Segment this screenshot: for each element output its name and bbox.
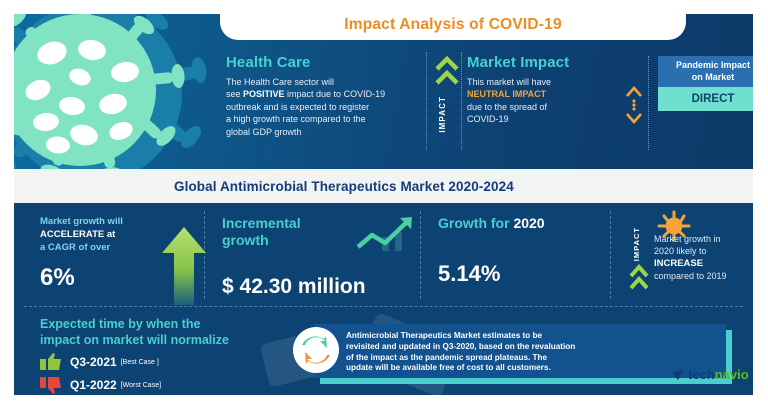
note-text: Antimicrobial Therapeutics Market estima…: [314, 324, 726, 374]
mi-emphasis: NEUTRAL IMPACT: [467, 89, 546, 99]
banner-notch-left: [14, 6, 220, 14]
bottom-section: Expected time by when the impact on mark…: [14, 307, 753, 395]
best-case-label: [Best Case ]: [121, 359, 159, 366]
hc-line2-post: impact due to COVID-19: [285, 89, 386, 99]
market-impact-heading: Market Impact: [467, 54, 617, 71]
chevron-up-double-icon: [628, 263, 650, 293]
pandemic-impact-value: DIRECT: [658, 87, 753, 111]
impact-divider: IMPACT: [434, 54, 464, 156]
market-impact-body: This market will have NEUTRAL IMPACT due…: [467, 76, 617, 126]
normalize-line1: Expected time by when the: [40, 317, 200, 331]
refresh-icon: [292, 326, 340, 374]
cagr-line1: Market growth will: [40, 216, 123, 227]
hc-line2-pre: see: [226, 89, 243, 99]
impact-right-label: IMPACT: [632, 227, 641, 261]
stats-row: Market growth will ACCELERATE at a CAGR …: [14, 203, 753, 307]
note-line3: of the impact as the pandemic spread pla…: [346, 353, 547, 362]
health-care-body: The Health Care sector will see POSITIVE…: [226, 76, 426, 138]
note-main: Antimicrobial Therapeutics Market estima…: [314, 324, 726, 378]
worst-case-label: [Worst Case]: [121, 382, 161, 389]
hero-divider-far-right: [648, 56, 649, 150]
logo-text-navio: navio: [715, 367, 749, 382]
main-panel: Impact Analysis of COVID-19 Health Care …: [14, 6, 753, 395]
market-impact-column: Market Impact This market will have NEUT…: [467, 54, 617, 126]
note-box: Antimicrobial Therapeutics Market estima…: [314, 324, 726, 378]
cagr-line3: a CAGR of over: [40, 242, 110, 253]
hc-line3: outbreak and is expected to register: [226, 102, 369, 112]
title-banner: Impact Analysis of COVID-19: [220, 6, 686, 40]
best-case-quarter: Q3-2021: [70, 355, 117, 369]
market-title: Global Antimicrobial Therapeutics Market…: [174, 179, 514, 194]
mi-line4: COVID-19: [467, 114, 509, 124]
note-line2: revisited and updated in Q3-2020, based …: [346, 342, 575, 351]
health-care-column: Health Care The Health Care sector will …: [226, 54, 426, 138]
stats-divider-2: [420, 211, 421, 299]
hc-line1: The Health Care sector will: [226, 77, 334, 87]
impact-right-text: Market growth in 2020 likely to INCREASE…: [654, 233, 753, 282]
chevron-up-double-icon: [434, 54, 460, 90]
impact-right-line4: compared to 2019: [654, 271, 727, 281]
note-line4: update will be available free of cost to…: [346, 363, 551, 372]
technavio-logo: tech navio: [672, 367, 749, 382]
normalize-line2: impact on market will normalize: [40, 333, 229, 347]
impact-right-line1: Market growth in: [654, 234, 721, 244]
worst-case-quarter: Q1-2022: [70, 378, 117, 392]
arrows-up-down-icon: [623, 84, 645, 126]
hero-divider-right: [461, 52, 462, 150]
impact-right-emphasis: INCREASE: [654, 258, 703, 269]
infographic-root: Impact Analysis of COVID-19 Health Care …: [0, 0, 768, 401]
hero-section: Impact Analysis of COVID-19 Health Care …: [14, 6, 753, 169]
pandemic-header-line2: on Market: [692, 72, 735, 82]
pandemic-header-line1: Pandemic Impact: [676, 60, 750, 70]
incremental-value: $ 42.30 million: [222, 275, 412, 299]
stats-divider-3: [610, 211, 611, 299]
logo-text-tech: tech: [688, 367, 715, 382]
page-title: Impact Analysis of COVID-19: [344, 16, 562, 40]
technavio-flag-icon: [672, 369, 685, 381]
thumbs-down-icon: [40, 376, 62, 394]
hc-line2-emphasis: POSITIVE: [243, 89, 285, 99]
incremental-line2: growth: [222, 232, 269, 248]
pandemic-impact-box: Pandemic Impact on Market DIRECT: [658, 56, 753, 111]
incremental-line1: Incremental: [222, 215, 301, 231]
health-care-heading: Health Care: [226, 54, 426, 71]
mi-line3: due to the spread of: [467, 102, 547, 112]
hc-line5: global GDP growth: [226, 127, 301, 137]
growth-2020-label: Growth for 2020: [438, 215, 598, 231]
arrow-up-icon: [160, 225, 208, 305]
worst-case-row: Q1-2022 [Worst Case]: [40, 376, 290, 394]
cagr-line2: ACCELERATE at: [40, 229, 115, 240]
impact-right-line2: 2020 likely to: [654, 246, 707, 256]
growth-label-pre: Growth for: [438, 215, 513, 231]
hc-line4: a high growth rate compared to the: [226, 114, 366, 124]
hero-divider-left: [426, 52, 427, 150]
growth-2020-stat: Growth for 2020 5.14%: [438, 215, 598, 287]
normalize-block: Expected time by when the impact on mark…: [40, 317, 290, 394]
pandemic-impact-header: Pandemic Impact on Market: [658, 56, 753, 87]
trend-up-icon: [354, 215, 416, 255]
growth-label-year: 2020: [513, 215, 544, 231]
market-title-banner: Global Antimicrobial Therapeutics Market…: [14, 169, 753, 203]
mi-line1: This market will have: [467, 77, 551, 87]
banner-notch-right: [686, 6, 753, 14]
impact-vertical-label: IMPACT: [438, 96, 447, 133]
growth-2020-value: 5.14%: [438, 261, 598, 287]
thumbs-up-icon: [40, 353, 62, 371]
normalize-heading: Expected time by when the impact on mark…: [40, 317, 290, 348]
best-case-row: Q3-2021 [Best Case ]: [40, 353, 290, 371]
note-line1: Antimicrobial Therapeutics Market estima…: [346, 331, 542, 340]
